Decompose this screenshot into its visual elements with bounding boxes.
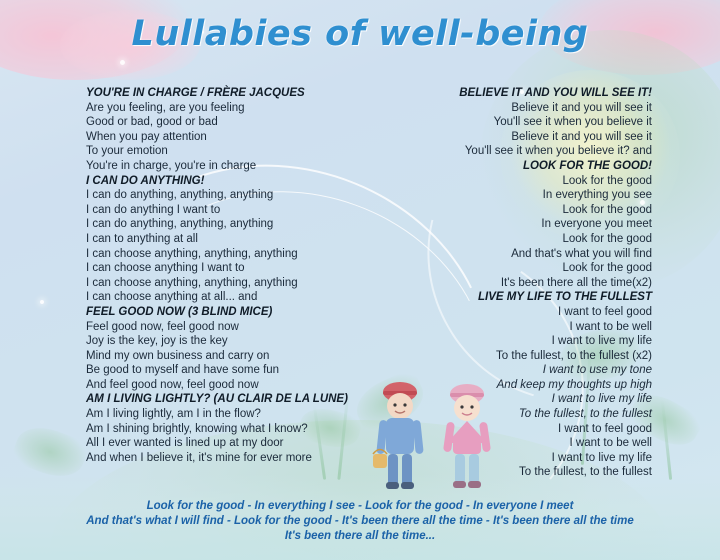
lyric-line: Look for the good xyxy=(390,203,652,218)
lyric-line: I want to use my tone xyxy=(390,363,652,378)
lyric-line: When you pay attention xyxy=(86,130,386,145)
lyric-line: I want to live my life xyxy=(390,451,652,466)
lyric-line: In everything you see xyxy=(390,188,652,203)
lyric-line: Mind my own business and carry on xyxy=(86,349,386,364)
lyric-line: I want to live my life xyxy=(390,334,652,349)
lyric-line: You're in charge, you're in charge xyxy=(86,159,386,174)
song-block: BELIEVE IT AND YOU WILL SEE IT! Believe … xyxy=(390,86,652,159)
lyric-line: Feel good now, feel good now xyxy=(86,320,386,335)
song-block: FEEL GOOD NOW (3 BLIND MICE) Feel good n… xyxy=(86,305,386,393)
song-heading: YOU'RE IN CHARGE / FRÈRE JACQUES xyxy=(86,86,386,101)
lyric-line: To the fullest, to the fullest xyxy=(390,465,652,480)
lyric-line: I can choose anything at all... and xyxy=(86,290,386,305)
lyric-line: I can choose anything, anything, anythin… xyxy=(86,247,386,262)
lyric-line: Believe it and you will see it xyxy=(390,130,652,145)
song-heading: I CAN DO ANYTHING! xyxy=(86,174,386,189)
chorus-line: And that's what I will find - Look for t… xyxy=(0,514,720,529)
song-block: LOOK FOR THE GOOD! Look for the good In … xyxy=(390,159,652,290)
lyric-line: I want to be well xyxy=(390,436,652,451)
lyric-line: I can choose anything I want to xyxy=(86,261,386,276)
lyric-line: Believe it and you will see it xyxy=(390,101,652,116)
lyric-line: To your emotion xyxy=(86,144,386,159)
lyric-line: In everyone you meet xyxy=(390,217,652,232)
sparkle-icon-1 xyxy=(120,60,125,65)
lyric-line: I want to be well xyxy=(390,320,652,335)
lyric-line: I can choose anything, anything, anythin… xyxy=(86,276,386,291)
lyric-line: I can do anything, anything, anything xyxy=(86,188,386,203)
lyric-line: Am I shining brightly, knowing what I kn… xyxy=(86,422,386,437)
lyric-line: Look for the good xyxy=(390,232,652,247)
song-heading: LIVE MY LIFE TO THE FULLEST xyxy=(390,290,652,305)
chorus-footer: Look for the good - In everything I see … xyxy=(0,499,720,544)
chorus-line: Look for the good - In everything I see … xyxy=(0,499,720,514)
lyric-line: And keep my thoughts up high xyxy=(390,378,652,393)
lyric-line: You'll see it when you believe it? and xyxy=(390,144,652,159)
lyric-line: I want to feel good xyxy=(390,305,652,320)
lyrics-page: Lullabies of well-being YOU'RE IN CHARGE… xyxy=(0,0,720,560)
lyric-line: I can do anything I want to xyxy=(86,203,386,218)
lyric-line: Are you feeling, are you feeling xyxy=(86,101,386,116)
song-heading: LOOK FOR THE GOOD! xyxy=(390,159,652,174)
lyric-line: I can to anything at all xyxy=(86,232,386,247)
song-heading: AM I LIVING LIGHTLY? (AU CLAIR DE LA LUN… xyxy=(86,392,386,407)
page-title: Lullabies of well-being xyxy=(0,14,720,54)
lyric-line: To the fullest, to the fullest xyxy=(390,407,652,422)
lyric-line: I want to live my life xyxy=(390,392,652,407)
lyric-line: Be good to myself and have some fun xyxy=(86,363,386,378)
chorus-line: It's been there all the time... xyxy=(0,529,720,544)
lyric-line: All I ever wanted is lined up at my door xyxy=(86,436,386,451)
lyric-line: It's been there all the time(x2) xyxy=(390,276,652,291)
lyrics-columns: YOU'RE IN CHARGE / FRÈRE JACQUES Are you… xyxy=(0,86,720,486)
lyric-line: Am I living lightly, am I in the flow? xyxy=(86,407,386,422)
lyrics-column-left: YOU'RE IN CHARGE / FRÈRE JACQUES Are you… xyxy=(86,86,386,465)
lyric-line: I want to feel good xyxy=(390,422,652,437)
lyrics-column-right: BELIEVE IT AND YOU WILL SEE IT! Believe … xyxy=(390,86,652,480)
song-heading: BELIEVE IT AND YOU WILL SEE IT! xyxy=(390,86,652,101)
lyric-line: Look for the good xyxy=(390,174,652,189)
lyric-line: I can do anything, anything, anything xyxy=(86,217,386,232)
lyric-line: And feel good now, feel good now xyxy=(86,378,386,393)
lyric-line: Joy is the key, joy is the key xyxy=(86,334,386,349)
lyric-line: And that's what you will find xyxy=(390,247,652,262)
song-block: LIVE MY LIFE TO THE FULLEST I want to fe… xyxy=(390,290,652,480)
lyric-line: Look for the good xyxy=(390,261,652,276)
lyric-line: You'll see it when you believe it xyxy=(390,115,652,130)
lyric-line: Good or bad, good or bad xyxy=(86,115,386,130)
lyric-line: And when I believe it, it's mine for eve… xyxy=(86,451,386,466)
song-block: YOU'RE IN CHARGE / FRÈRE JACQUES Are you… xyxy=(86,86,386,174)
song-block: AM I LIVING LIGHTLY? (AU CLAIR DE LA LUN… xyxy=(86,392,386,465)
song-block: I CAN DO ANYTHING! I can do anything, an… xyxy=(86,174,386,305)
song-heading: FEEL GOOD NOW (3 BLIND MICE) xyxy=(86,305,386,320)
lyric-line: To the fullest, to the fullest (x2) xyxy=(390,349,652,364)
